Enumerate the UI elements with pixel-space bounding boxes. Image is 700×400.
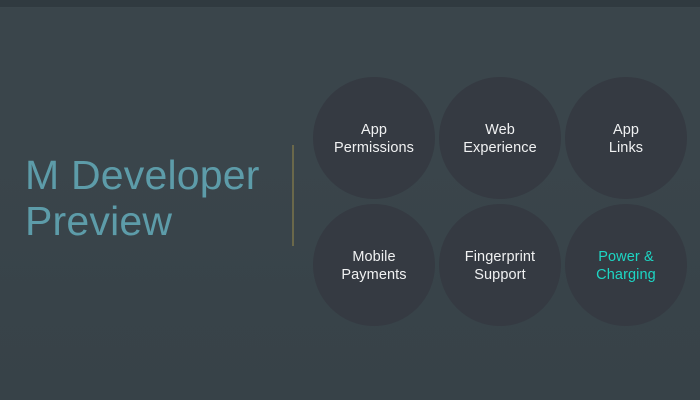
feature-label-power-and-charging: Power & Charging bbox=[596, 246, 656, 285]
feature-circle-mobile-payments[interactable]: Mobile Payments bbox=[313, 204, 435, 326]
feature-label-fingerprint-support: Fingerprint Support bbox=[465, 246, 535, 285]
presentation-slide: M Developer Preview App Permissions Web … bbox=[0, 0, 700, 400]
feature-circle-power-and-charging[interactable]: Power & Charging bbox=[565, 204, 687, 326]
feature-label-mobile-payments: Mobile Payments bbox=[341, 246, 406, 285]
feature-circle-grid: App Permissions Web Experience App Links… bbox=[313, 77, 688, 329]
feature-circle-app-links[interactable]: App Links bbox=[565, 77, 687, 199]
feature-label-app-links: App Links bbox=[609, 119, 643, 158]
feature-circle-app-permissions[interactable]: App Permissions bbox=[313, 77, 435, 199]
slide-title-line-2: Preview bbox=[25, 198, 275, 244]
slide-title: M Developer Preview bbox=[25, 152, 275, 244]
feature-label-web-experience: Web Experience bbox=[463, 119, 537, 158]
slide-title-line-1: M Developer bbox=[25, 152, 275, 198]
top-edge-highlight bbox=[0, 7, 700, 8]
top-edge-band bbox=[0, 0, 700, 7]
feature-circle-fingerprint-support[interactable]: Fingerprint Support bbox=[439, 204, 561, 326]
feature-circle-web-experience[interactable]: Web Experience bbox=[439, 77, 561, 199]
feature-label-app-permissions: App Permissions bbox=[334, 119, 414, 158]
vertical-divider-rule bbox=[292, 145, 294, 246]
